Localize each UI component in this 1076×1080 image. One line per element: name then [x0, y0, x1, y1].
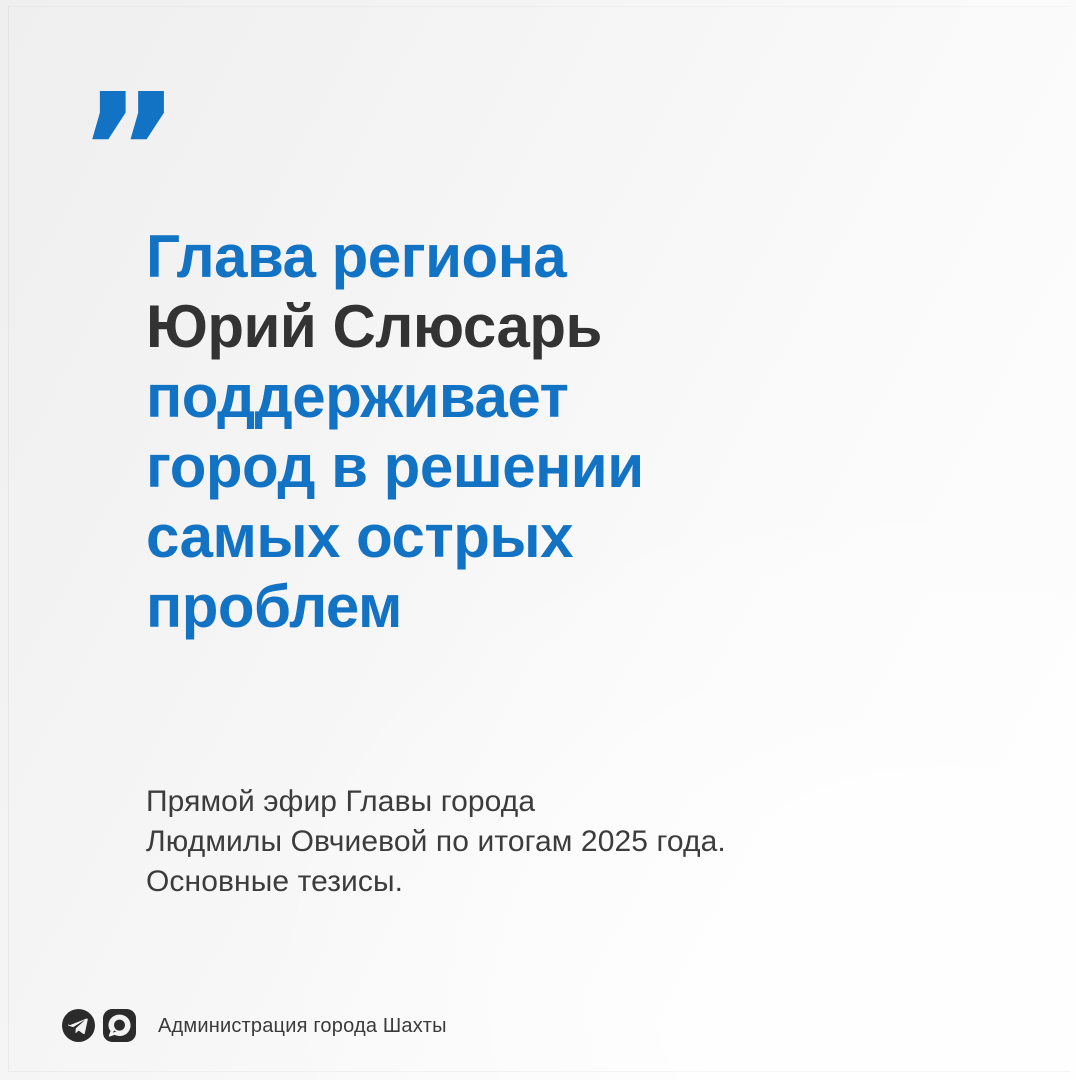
- quote-mark-icon: ”: [78, 73, 174, 228]
- headline-line-1: Глава региона: [146, 222, 886, 292]
- subtitle-line-3: Основные тезисы.: [146, 862, 946, 902]
- quote-poster: ” Глава региона Юрий Слюсарь поддерживае…: [0, 0, 1076, 1080]
- subtitle: Прямой эфир Главы города Людмилы Овчиево…: [146, 782, 946, 902]
- headline-line-2: Юрий Слюсарь: [146, 292, 886, 362]
- telegram-icon[interactable]: [62, 1009, 95, 1042]
- max-messenger-icon[interactable]: [103, 1009, 136, 1042]
- social-icons: [62, 1009, 136, 1042]
- headline-line-6: проблем: [146, 572, 886, 642]
- headline-line-3: поддерживает: [146, 362, 886, 432]
- subtitle-line-2: Людмилы Овчиевой по итогам 2025 года.: [146, 822, 946, 862]
- subtitle-line-1: Прямой эфир Главы города: [146, 782, 946, 822]
- page-title: Глава региона Юрий Слюсарь поддерживает …: [146, 222, 886, 642]
- footer: Администрация города Шахты: [62, 1009, 447, 1042]
- headline-line-4: город в решении: [146, 432, 886, 502]
- headline-line-5: самых острых: [146, 502, 886, 572]
- organization-name: Администрация города Шахты: [158, 1016, 447, 1036]
